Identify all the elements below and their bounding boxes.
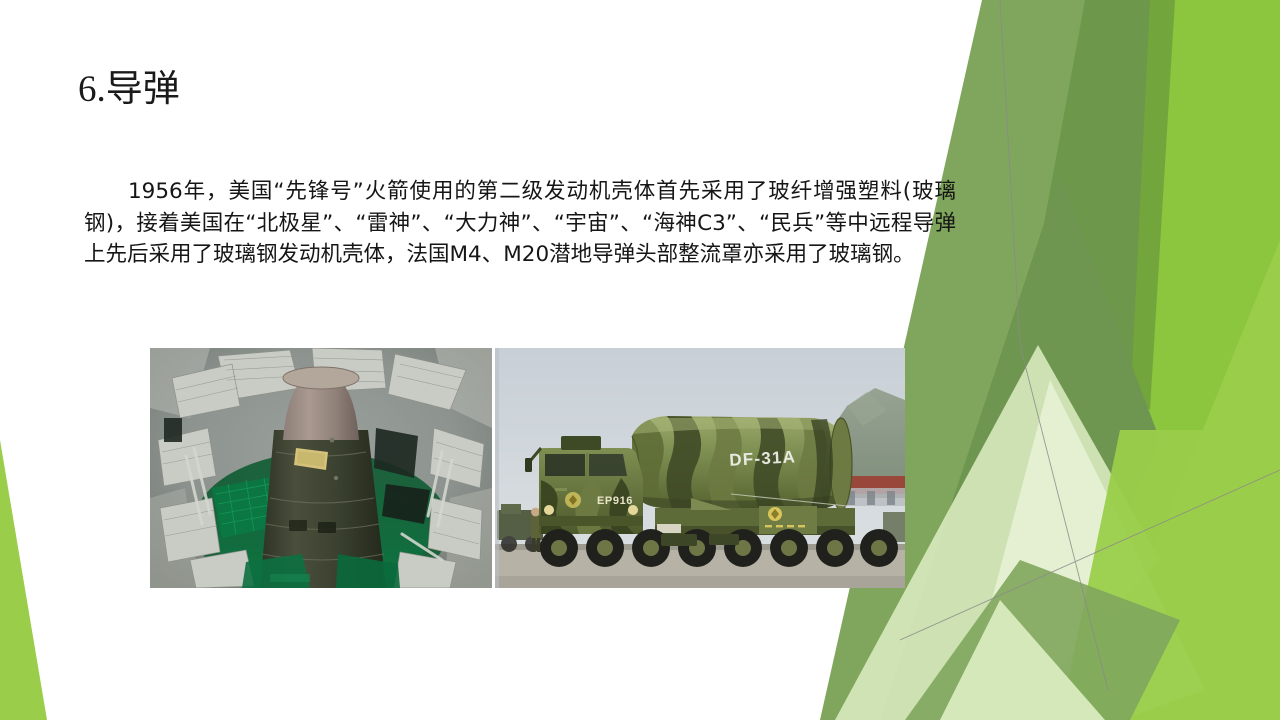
hairline-group [900,0,1280,690]
title-block: 6.导弹 [78,66,180,114]
facet-lime-bright [905,0,1280,720]
facet-olive-deep [1030,0,1175,410]
canister-marking: DF-31A [729,447,797,469]
cab-plate-marking: EP916 [597,495,633,507]
body-block: 1956年，美国“先锋号”火箭使用的第二级发动机壳体首先采用了玻纤增强塑料(玻璃… [84,176,956,271]
page-title: 6.导弹 [78,66,180,114]
facet-mint-lighter [960,380,1205,720]
underbody-box-1 [661,534,697,546]
slide-canvas: 6.导弹 1956年，美国“先锋号”火箭使用的第二级发动机壳体首先采用了玻纤增强… [0,0,1280,720]
headlight-left [544,505,554,515]
df31a-tel-photo: DF-31A [495,348,905,588]
body-paragraph: 1956年，美国“先锋号”火箭使用的第二级发动机壳体首先采用了玻纤增强塑料(玻璃… [84,176,956,271]
hairline-top-diagonal [1000,0,1020,345]
underbody-box-2 [709,534,739,545]
hatch-right [318,522,336,533]
hairline-mid-diagonal [1020,345,1108,690]
hatch-left [289,520,307,531]
facet-lime-overlay-lower [1060,430,1280,720]
facet-bottom-left-wedge [0,440,47,720]
facet-mint-bottom-sliver [940,600,1105,720]
cab-bumper [539,516,643,526]
photo-left-edge-strip [495,348,499,588]
facet-lime-far-right [1000,0,1280,720]
cab-roof-box [561,436,601,450]
picture-row: DF-31A [150,348,905,588]
hairline-long-diagonal [900,470,1280,640]
missile-silo-photo [150,348,492,588]
facet-olive-lower-left [905,560,1180,720]
windshield [545,454,585,476]
